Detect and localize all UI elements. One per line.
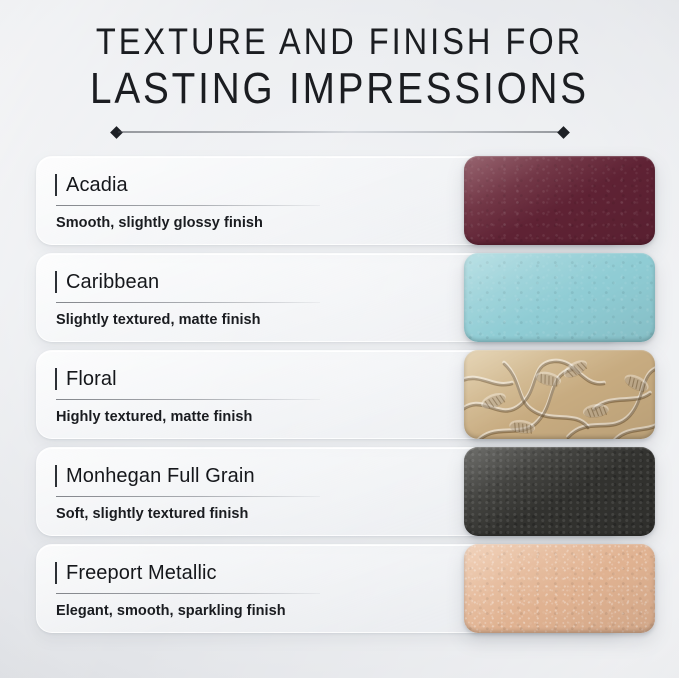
swatch-text-group: FloralHighly textured, matte finish (55, 365, 385, 425)
accent-tick-icon (55, 368, 57, 390)
swatch-description: Highly textured, matte finish (56, 409, 385, 425)
swatch-inner-edge (464, 447, 655, 536)
swatch-row[interactable]: FloralHighly textured, matte finish (36, 350, 655, 439)
swatch-inner-edge (464, 253, 655, 342)
swatch-color-chip[interactable] (464, 253, 655, 342)
swatch-text-group: CaribbeanSlightly textured, matte finish (55, 268, 385, 328)
swatch-name: Floral (66, 369, 117, 389)
swatch-color-chip[interactable] (464, 156, 655, 245)
swatch-name-underline (56, 593, 320, 594)
swatch-name-underline (56, 496, 320, 497)
swatch-color-chip[interactable] (464, 447, 655, 536)
page-title-line-1: TEXTURE AND FINISH FOR (41, 22, 639, 62)
title-divider (112, 126, 568, 138)
swatch-row[interactable]: Monhegan Full GrainSoft, slightly textur… (36, 447, 655, 536)
accent-tick-icon (55, 562, 57, 584)
swatch-row[interactable]: AcadiaSmooth, slightly glossy finish (36, 156, 655, 245)
swatch-name: Freeport Metallic (66, 563, 217, 583)
swatch-text-group: Freeport MetallicElegant, smooth, sparkl… (55, 559, 385, 619)
swatch-inner-edge (464, 544, 655, 633)
swatch-name-row: Freeport Metallic (55, 559, 385, 587)
swatch-name-row: Floral (55, 365, 385, 393)
swatch-inner-edge (464, 156, 655, 245)
swatch-name: Caribbean (66, 272, 159, 292)
swatch-name: Acadia (66, 175, 128, 195)
swatch-row[interactable]: CaribbeanSlightly textured, matte finish (36, 253, 655, 342)
swatch-name-underline (56, 205, 320, 206)
swatch-row[interactable]: Freeport MetallicElegant, smooth, sparkl… (36, 544, 655, 633)
swatch-description: Smooth, slightly glossy finish (56, 215, 385, 231)
swatch-color-chip[interactable] (464, 350, 655, 439)
poster-header: TEXTURE AND FINISH FOR LASTING IMPRESSIO… (0, 0, 679, 138)
swatch-name: Monhegan Full Grain (66, 466, 255, 486)
swatch-text-group: AcadiaSmooth, slightly glossy finish (55, 171, 385, 231)
swatch-name-row: Monhegan Full Grain (55, 462, 385, 490)
swatch-name-row: Acadia (55, 171, 385, 199)
swatch-description: Elegant, smooth, sparkling finish (56, 603, 385, 619)
diamond-right-icon (557, 126, 570, 139)
divider-line (118, 132, 562, 133)
infographic-poster: TEXTURE AND FINISH FOR LASTING IMPRESSIO… (0, 0, 679, 678)
swatch-text-group: Monhegan Full GrainSoft, slightly textur… (55, 462, 385, 522)
swatch-color-chip[interactable] (464, 544, 655, 633)
accent-tick-icon (55, 174, 57, 196)
swatch-name-underline (56, 302, 320, 303)
swatch-inner-edge (464, 350, 655, 439)
swatch-name-underline (56, 399, 320, 400)
swatch-description: Soft, slightly textured finish (56, 506, 385, 522)
swatch-description: Slightly textured, matte finish (56, 312, 385, 328)
accent-tick-icon (55, 465, 57, 487)
page-title-line-2: LASTING IMPRESSIONS (41, 65, 639, 113)
swatch-list: AcadiaSmooth, slightly glossy finishCari… (0, 156, 679, 633)
swatch-name-row: Caribbean (55, 268, 385, 296)
accent-tick-icon (55, 271, 57, 293)
